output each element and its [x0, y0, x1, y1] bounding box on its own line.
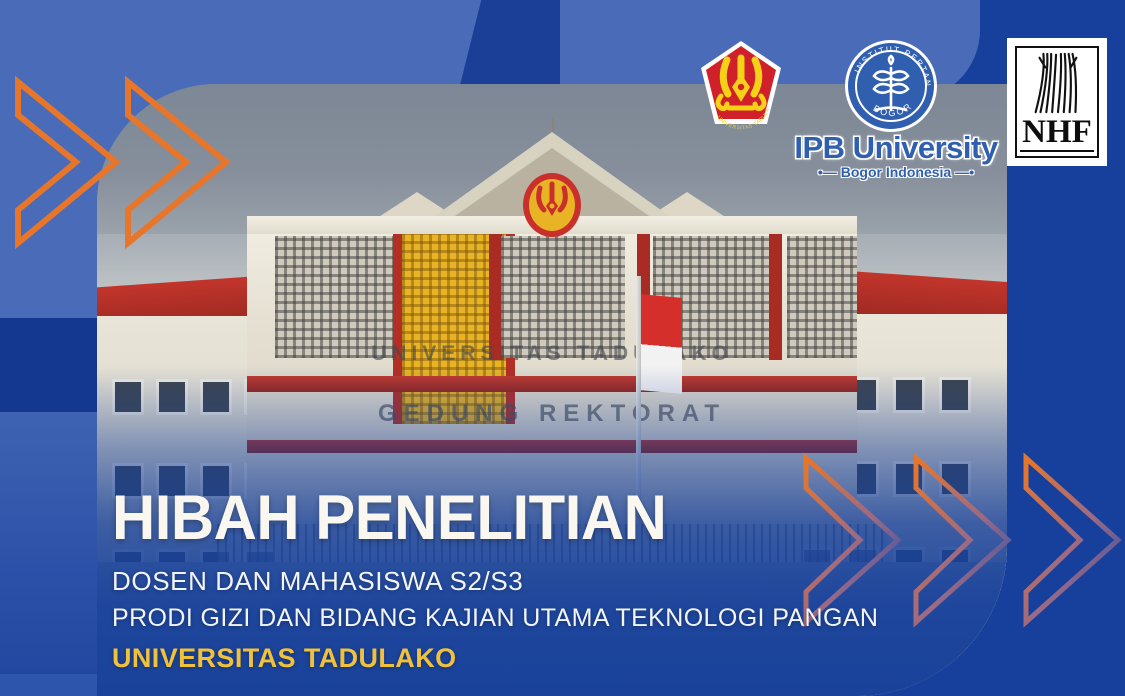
poster-subtitle-1: DOSEN DAN MAHASISWA S2/S3: [112, 564, 1012, 598]
headline-block: HIBAH PENELITIAN DOSEN DAN MAHASISWA S2/…: [112, 487, 1012, 674]
nhf-logo-frame: NHF: [1015, 46, 1099, 158]
poster-canvas: UNIVERSITAS TADULAKO GEDUNG REKTORAT: [0, 0, 1125, 696]
photo-lattice-2: [501, 236, 625, 358]
photo-lattice-1: [275, 236, 393, 358]
untad-logo-icon: UNIVERSITAS TADULAKO: [697, 38, 785, 133]
poster-institution: UNIVERSITAS TADULAKO: [112, 643, 1012, 674]
ipb-logo-block: INSTITUT PERTANIAN BOGOR IPB University …: [791, 38, 1001, 188]
ipb-tagline-right-dash: —•: [951, 164, 978, 180]
ipb-seal-icon: INSTITUT PERTANIAN BOGOR: [843, 38, 939, 134]
nhf-logo-icon: NHF: [1007, 38, 1107, 166]
building-sign-top: UNIVERSITAS TADULAKO: [97, 342, 1007, 366]
ipb-tagline: •—Bogor Indonesia—•: [791, 164, 1001, 180]
photo-lattice-4: [787, 236, 857, 358]
ipb-tagline-text: Bogor Indonesia: [841, 164, 951, 180]
poster-subtitle-2: PRODI GIZI DAN BIDANG KAJIAN UTAMA TEKNO…: [112, 602, 1012, 635]
building-crest-icon: [522, 172, 582, 238]
logo-row: UNIVERSITAS TADULAKO: [697, 38, 1107, 188]
nhf-mark-icon: [1018, 50, 1096, 116]
poster-title: HIBAH PENELITIAN: [112, 487, 967, 550]
nhf-wordmark: NHF: [1020, 116, 1094, 152]
ipb-tagline-left-dash: •—: [814, 164, 841, 180]
ipb-wordmark: IPB University: [791, 130, 1001, 166]
chevron-decoration-left: [8, 70, 238, 255]
